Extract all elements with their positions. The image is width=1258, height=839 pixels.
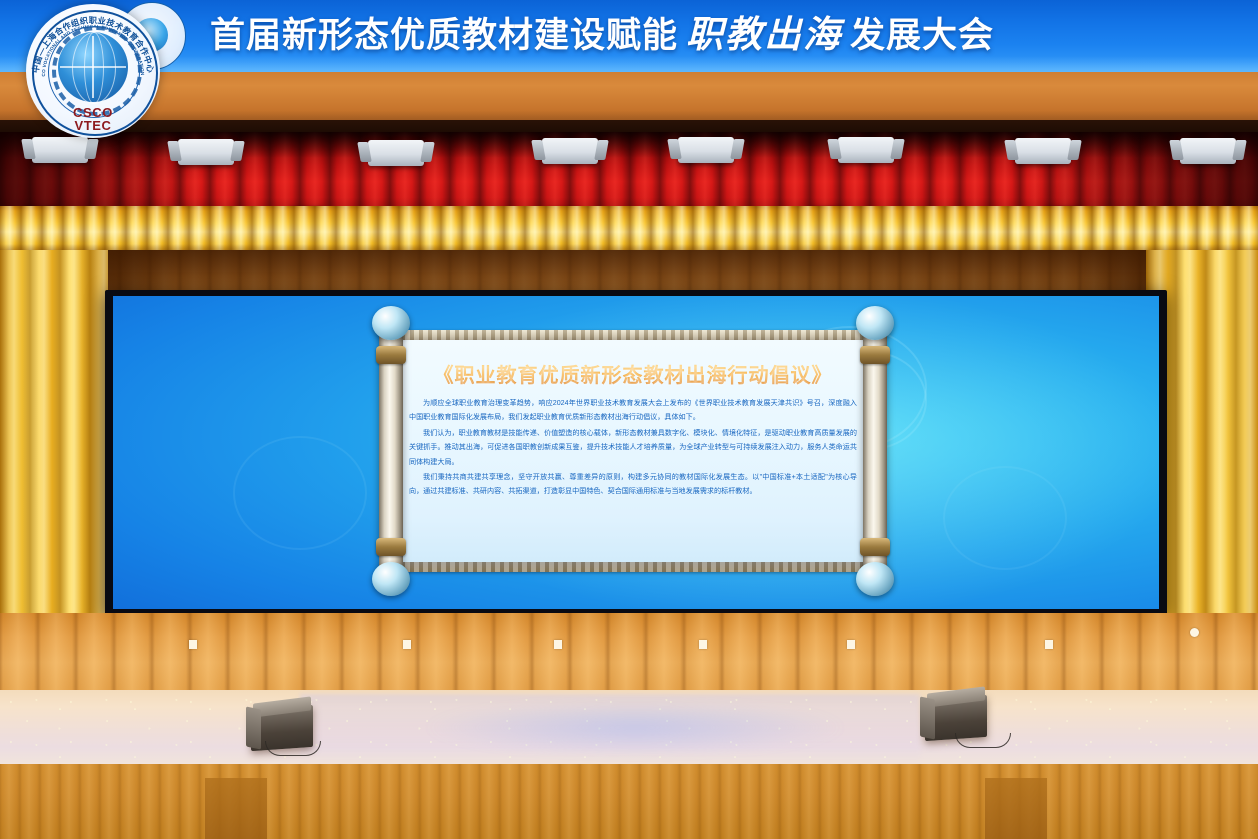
wall-vent: [699, 640, 707, 649]
stage-light: [1015, 138, 1071, 164]
wall-vent: [847, 640, 855, 649]
scroll-rod-band: [376, 346, 406, 364]
screen-reflection-on-floor: [420, 700, 850, 755]
logo-acronym: CSCO VTEC: [18, 106, 168, 132]
scroll-paragraph: 为顺应全球职业教育治理变革趋势，响应2024年世界职业技术教育发展大会上发布的《…: [409, 396, 857, 425]
banner-title-emphasis: 职教出海: [678, 14, 850, 55]
scroll-rod-band: [860, 538, 890, 556]
stage-front-facade: [0, 764, 1258, 839]
scroll-title: 《职业教育优质新形态教材出海行动倡议》: [403, 364, 863, 388]
scroll-paragraph: 我们认为，职业教育教材是技能传递、价值塑造的核心载体，新形态教材兼具数字化、模块…: [409, 426, 857, 469]
scroll-paragraph: 我们秉持共商共建共享理念，坚守开放共赢、尊重差异的原则，构建多元协同的教材国际化…: [409, 470, 857, 499]
conference-stage-photo: 《职业教育优质新形态教材出海行动倡议》 为顺应全球职业教育治理变革趋势，响应20…: [0, 0, 1258, 839]
csco-vtec-logo: 中国—上海合作组织职业技术教育合作中心 CHINA-SCO VOCATIONAL…: [18, 0, 168, 146]
facade-access-panel: [205, 778, 267, 839]
stage-light: [1180, 138, 1236, 164]
scroll-knob: [856, 562, 894, 596]
screen-swirl-decor: [943, 466, 1067, 570]
stage-apron-wall: [0, 613, 1258, 693]
wall-vent: [1045, 640, 1053, 649]
wall-vent: [403, 640, 411, 649]
facade-wood-grain: [0, 764, 1258, 839]
scroll-body-text: 为顺应全球职业教育治理变革趋势，响应2024年世界职业技术教育发展大会上发布的《…: [409, 396, 857, 500]
led-screen: 《职业教育优质新形态教材出海行动倡议》 为顺应全球职业教育治理变革趋势，响应20…: [113, 296, 1159, 609]
logo-acronym-line2: VTEC: [18, 119, 168, 132]
led-screen-frame: 《职业教育优质新形态教材出海行动倡议》 为顺应全球职业教育治理变革趋势，响应20…: [105, 290, 1167, 615]
scroll-rod-right: [863, 320, 887, 582]
scroll-knob: [372, 306, 410, 340]
speaker-cable: [955, 733, 1011, 748]
scroll-knob: [856, 306, 894, 340]
scroll-rod-band: [376, 538, 406, 556]
scroll-knob: [372, 562, 410, 596]
gold-valance: [0, 206, 1258, 256]
scroll-rod-left: [379, 320, 403, 582]
speaker-side-face: [920, 696, 935, 739]
facade-access-panel: [985, 778, 1047, 839]
speaker-cable: [265, 741, 321, 756]
stage-light: [542, 138, 598, 164]
scroll-rod-band: [860, 346, 890, 364]
wall-vent: [189, 640, 197, 649]
banner-title-part1: 首届新形态优质教材建设赋能: [210, 16, 678, 55]
banner-title: 首届新形态优质教材建设赋能职教出海发展大会: [210, 7, 1140, 63]
stage-light: [368, 140, 424, 166]
wall-vent: [554, 640, 562, 649]
event-banner: 首届新形态优质教材建设赋能职教出海发展大会: [0, 0, 1258, 72]
stage-light: [178, 139, 234, 165]
scroll-graphic: 《职业教育优质新形态教材出海行动倡议》 为顺应全球职业教育治理变革趋势，响应20…: [343, 316, 923, 586]
stage-light: [678, 137, 734, 163]
banner-title-part2: 发展大会: [850, 16, 994, 55]
stage-light: [838, 137, 894, 163]
svg-text:CHINA-SCO VOCATIONAL AND TECHN: CHINA-SCO VOCATIONAL AND TECHNICAL EDUCA…: [18, 0, 145, 77]
apron-slats: [0, 613, 1258, 693]
speaker-side-face: [246, 706, 261, 749]
wall-vent: [1190, 628, 1199, 637]
gold-valance-pleats: [0, 206, 1258, 256]
